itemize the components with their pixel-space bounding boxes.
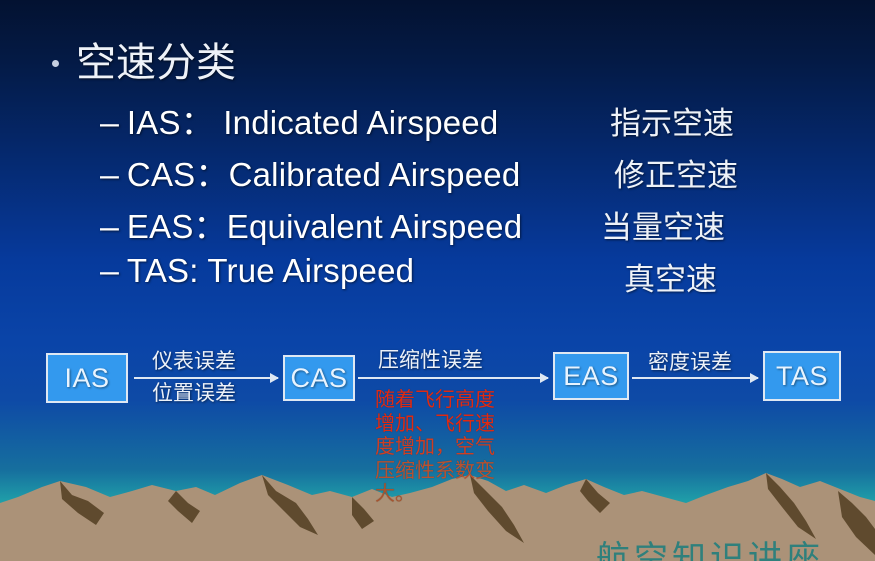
diagram-annotation-note: 随着飞行高度 增加、飞行速 度增加，空气 压缩性系数变 大。 <box>375 388 525 506</box>
list-item-label: TAS: True Airspeed <box>127 252 414 290</box>
diagram-node-cas: CAS <box>283 355 355 401</box>
arrow-label-compressibility-error: 压缩性误差 <box>378 344 483 374</box>
list-item: – TAS: True Airspeed <box>100 252 414 291</box>
list-item: – EAS：Equivalent Airspeed <box>100 200 522 248</box>
list-item: – CAS：Calibrated Airspeed <box>100 148 520 196</box>
presentation-slide: 航空知识讲座 空速分类 – IAS： Indicated Airspeed – … <box>0 0 875 561</box>
list-item-label: EAS：Equivalent Airspeed <box>127 200 522 248</box>
list-item: – IAS： Indicated Airspeed <box>100 96 498 144</box>
note-line: 度增加，空气 <box>375 435 525 459</box>
list-dash-icon: – <box>100 104 119 143</box>
bullet-dot-icon <box>52 60 59 67</box>
slide-title-row: 空速分类 <box>52 30 236 88</box>
list-item-translation: 修正空速 <box>614 150 738 195</box>
arrow-eas-to-tas <box>632 377 758 379</box>
list-dash-icon: – <box>100 252 119 291</box>
note-line: 增加、飞行速 <box>375 412 525 436</box>
note-line: 随着飞行高度 <box>375 388 525 412</box>
diagram-node-eas: EAS <box>553 352 629 400</box>
arrow-label-position-error: 位置误差 <box>152 377 236 407</box>
list-item-translation: 当量空速 <box>601 202 725 247</box>
footer-partial-text: 航空知识讲座 <box>596 531 824 561</box>
diagram-node-tas: TAS <box>763 351 841 401</box>
list-item-translation: 指示空速 <box>610 98 734 143</box>
arrow-cas-to-eas <box>358 377 548 379</box>
list-item-translation: 真空速 <box>624 254 717 299</box>
list-dash-icon: – <box>100 156 119 195</box>
list-dash-icon: – <box>100 208 119 247</box>
list-item-label: IAS： Indicated Airspeed <box>127 96 498 144</box>
diagram-node-ias: IAS <box>46 353 128 403</box>
note-line: 压缩性系数变 <box>375 459 525 483</box>
arrow-label-instrument-error: 仪表误差 <box>152 345 236 375</box>
list-item-label: CAS：Calibrated Airspeed <box>127 148 520 196</box>
note-line: 大。 <box>375 482 525 506</box>
page-title: 空速分类 <box>76 30 236 88</box>
arrow-label-density-error: 密度误差 <box>648 346 732 376</box>
